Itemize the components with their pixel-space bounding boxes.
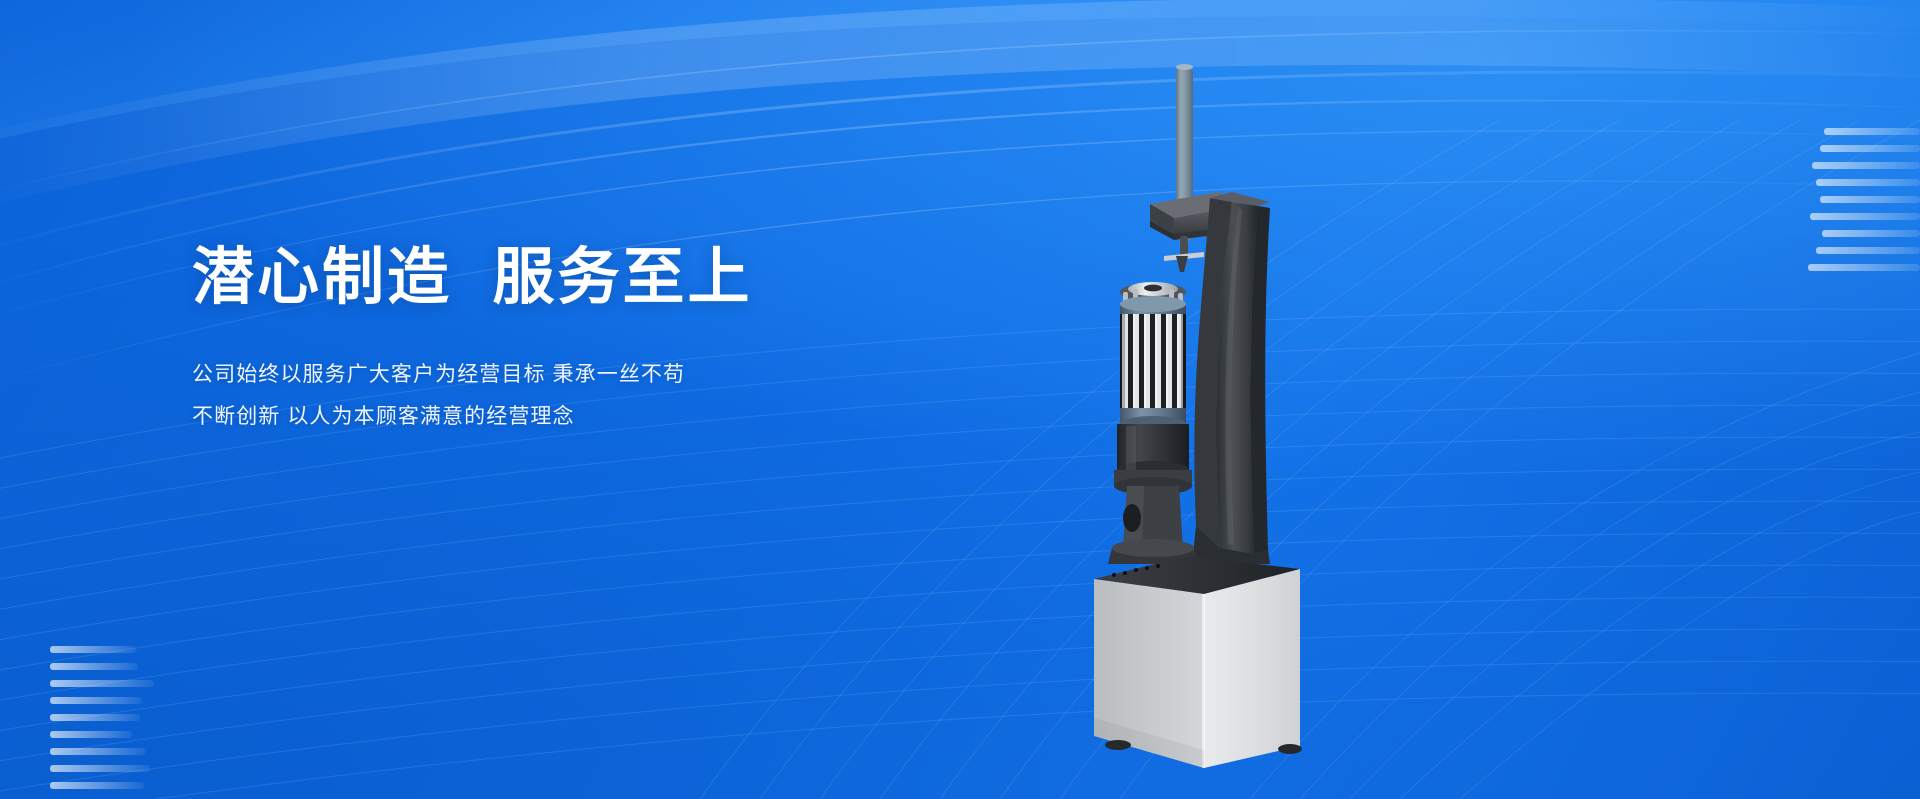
hero-subtitle: 公司始终以服务广大客户为经营目标 秉承一丝不苟 不断创新 以人为本顾客满意的经营…: [192, 354, 952, 438]
industrial-test-machine: [1092, 56, 1322, 791]
motor-housing-part: [1114, 424, 1192, 495]
ribbed-cylinder-part: [1120, 282, 1186, 432]
curved-column-part: [1192, 192, 1270, 564]
pedestal-cabinet-part: [1094, 556, 1302, 768]
drill-spindle-tip-part: [1164, 236, 1204, 272]
hero-subtitle-line-2: 不断创新 以人为本顾客满意的经营理念: [192, 396, 952, 438]
hero-headline: 潜心制造 服务至上: [192, 243, 952, 312]
hero-subtitle-line-1: 公司始终以服务广大客户为经营目标 秉承一丝不苟: [192, 354, 952, 396]
hero-copy: 潜心制造 服务至上 公司始终以服务广大客户为经营目标 秉承一丝不苟 不断创新 以…: [192, 243, 952, 438]
hero-banner: 潜心制造 服务至上 公司始终以服务广大客户为经营目标 秉承一丝不苟 不断创新 以…: [0, 0, 1920, 799]
base-flange-part: [1108, 486, 1198, 564]
